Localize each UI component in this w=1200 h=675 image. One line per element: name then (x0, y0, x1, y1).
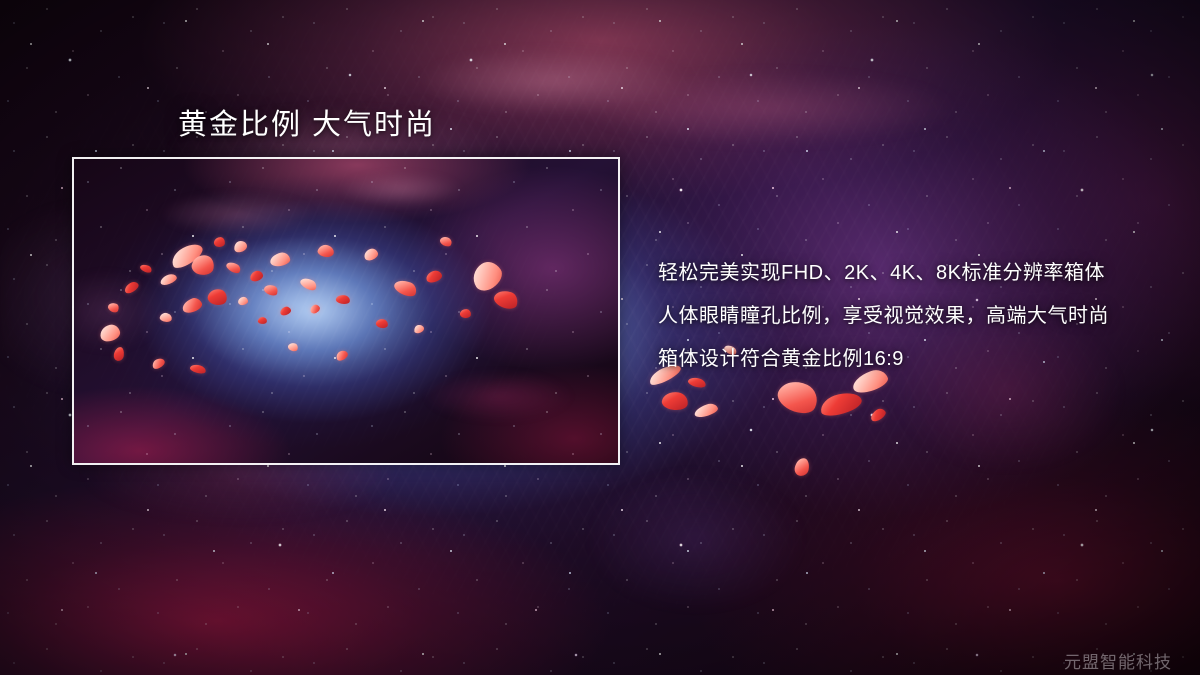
petal (773, 375, 822, 419)
description-line-3: 箱体设计符合黄金比例16:9 (658, 338, 1109, 381)
description-line-2: 人体眼睛瞳孔比例，享受视觉效果，高端大气时尚 (658, 295, 1109, 338)
framed-image-panel (72, 157, 620, 465)
slide-canvas: 黄金比例 大气时尚 轻松完美实现FHD、2K、4K、8K标准分辨率箱体 人体眼睛… (0, 0, 1200, 675)
framed-filament-layer (74, 159, 618, 463)
petal (818, 390, 863, 418)
petal (794, 457, 811, 477)
watermark-text: 元盟智能科技 (1064, 648, 1172, 673)
petal (869, 406, 888, 423)
petal (661, 390, 689, 411)
page-title: 黄金比例 大气时尚 (178, 101, 436, 143)
description-line-1: 轻松完美实现FHD、2K、4K、8K标准分辨率箱体 (658, 252, 1109, 295)
description-block: 轻松完美实现FHD、2K、4K、8K标准分辨率箱体 人体眼睛瞳孔比例，享受视觉效… (658, 252, 1109, 381)
petal (693, 402, 719, 420)
